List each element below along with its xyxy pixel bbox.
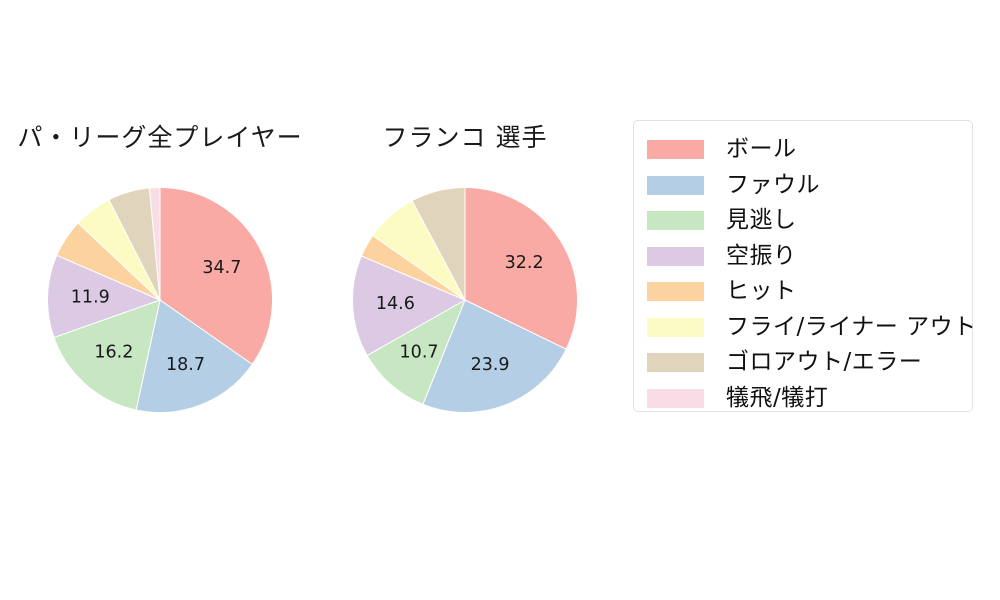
legend-item[interactable]: ゴロアウト/エラー — [634, 345, 972, 381]
legend-swatch-icon — [647, 282, 704, 301]
legend-item-label: ファウル — [726, 174, 820, 197]
legend-item[interactable]: ヒット — [634, 274, 972, 310]
legend-item-label: 空振り — [726, 245, 797, 268]
league-pie-title: パ・リーグ全プレイヤー — [10, 118, 310, 154]
player-pie-title: フランコ 選手 — [315, 118, 615, 154]
legend-item[interactable]: 見逃し — [634, 203, 972, 239]
league-pie-panel: パ・リーグ全プレイヤー 34.718.716.211.9 — [10, 110, 310, 410]
pie-slice-value-label: 23.9 — [471, 355, 510, 375]
legend-item[interactable]: 空振り — [634, 239, 972, 275]
pie-slice-value-label: 16.2 — [94, 342, 133, 362]
league-pie-svg: 34.718.716.211.9 — [47, 187, 273, 413]
legend-swatch-icon — [647, 389, 704, 408]
player-pie-wrap: 32.223.910.714.6 — [352, 187, 578, 413]
pie-slice-value-label: 34.7 — [202, 258, 241, 278]
pie-chart-figure: パ・リーグ全プレイヤー 34.718.716.211.9 フランコ 選手 32.… — [0, 0, 1000, 600]
player-pie-panel: フランコ 選手 32.223.910.714.6 — [315, 110, 615, 410]
legend-item-label: フライ/ライナー アウト — [726, 316, 977, 339]
legend-item-label: 見逃し — [726, 209, 797, 232]
pie-slice-value-label: 18.7 — [166, 355, 205, 375]
legend-box: ボールファウル見逃し空振りヒットフライ/ライナー アウトゴロアウト/エラー犠飛/… — [633, 120, 973, 412]
pie-slice-value-label: 10.7 — [400, 342, 439, 362]
legend-item[interactable]: ファウル — [634, 168, 972, 204]
legend-swatch-icon — [647, 247, 704, 266]
legend-item-label: ヒット — [726, 280, 797, 303]
league-pie-wrap: 34.718.716.211.9 — [47, 187, 273, 413]
legend-swatch-icon — [647, 176, 704, 195]
player-pie-svg: 32.223.910.714.6 — [352, 187, 578, 413]
legend-item[interactable]: フライ/ライナー アウト — [634, 310, 972, 346]
legend-item-label: 犠飛/犠打 — [726, 387, 828, 410]
legend-swatch-icon — [647, 353, 704, 372]
pie-slice-value-label: 32.2 — [505, 253, 544, 273]
legend-swatch-icon — [647, 318, 704, 337]
legend-item[interactable]: 犠飛/犠打 — [634, 381, 972, 417]
pie-slice-value-label: 11.9 — [71, 288, 110, 308]
legend-item-label: ボール — [726, 138, 797, 161]
legend-item-label: ゴロアウト/エラー — [726, 351, 922, 374]
legend-item[interactable]: ボール — [634, 132, 972, 168]
pie-slice-value-label: 14.6 — [376, 294, 415, 314]
legend-swatch-icon — [647, 140, 704, 159]
legend-swatch-icon — [647, 211, 704, 230]
